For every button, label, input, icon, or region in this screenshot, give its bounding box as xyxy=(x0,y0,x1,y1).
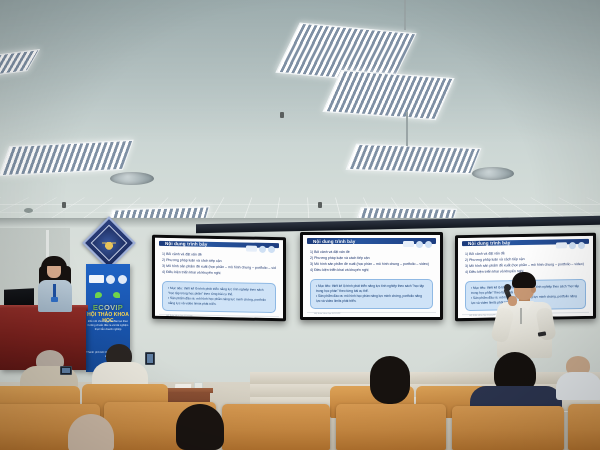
presentation-slide-2: Nội dung trình bày 1) Bối cảnh và đặt vấ… xyxy=(303,235,440,317)
slide-logo-wide-icon xyxy=(246,246,257,252)
smartphone xyxy=(60,366,72,375)
slide-logo-round-icon xyxy=(416,241,423,248)
slide-body: 1) Bối cảnh và đặt vấn đề 2) Phương pháp… xyxy=(303,244,440,312)
moderator-at-podium xyxy=(38,256,72,312)
moderator-hair-front xyxy=(45,258,63,266)
sprinkler-head-icon xyxy=(62,202,66,208)
sponsor-logo-1-icon xyxy=(89,275,104,283)
speaker-hand xyxy=(508,296,517,306)
slide-title: Nội dung trình bày xyxy=(468,240,510,246)
callout-line: • Sản phẩm đầu ra: mô hình học phần nâng… xyxy=(168,296,270,308)
smoke-detector-icon xyxy=(24,208,33,213)
slide-footer: Hội thảo khoa học ECOVIP xyxy=(307,312,436,317)
leaf-icon xyxy=(113,292,120,298)
ceiling-hanger-rod xyxy=(406,112,408,146)
slide-title: Nội dung trình bày xyxy=(165,241,207,247)
banner-subtitle: Đổi mới chương trình đào tạo theo hướng … xyxy=(87,320,129,332)
slide-logo-group xyxy=(403,241,432,248)
conference-room-photo: ECOVIP HỘI THẢO KHOA HỌC Đổi mới chương … xyxy=(0,0,600,450)
air-vent-icon xyxy=(472,167,514,180)
speaker-with-microphone xyxy=(494,272,556,358)
microphone-head-icon xyxy=(504,284,511,291)
slide-bullet: 4) Điều kiện triển khai và khuyến nghị xyxy=(310,267,433,273)
slide-body: 1) Bối cảnh và đặt vấn đề 2) Phương pháp… xyxy=(155,246,283,316)
auditorium-chair[interactable] xyxy=(222,404,330,450)
slide-logo-group xyxy=(246,245,275,253)
display-1-surface: Nội dung trình bày 1) Bối cảnh và đặt vấ… xyxy=(155,238,283,318)
tier-step xyxy=(250,372,600,384)
slide-logo-round-icon xyxy=(268,245,275,252)
audience-head xyxy=(176,404,224,450)
audience-head xyxy=(370,356,410,404)
slide-title: Nội dung trình bày xyxy=(313,239,355,244)
presentation-slide-1: Nội dung trình bày 1) Bối cảnh và đặt vấ… xyxy=(155,238,283,318)
emblem-crest-icon xyxy=(102,236,116,250)
sponsor-logo-2-icon xyxy=(106,275,115,284)
auditorium-chair[interactable] xyxy=(568,404,600,450)
slide-title-bar: Nội dung trình bày xyxy=(307,238,436,244)
air-vent-icon xyxy=(110,172,154,185)
slide-logo-wide-icon xyxy=(403,241,414,247)
slide-logo-round-icon xyxy=(569,242,576,249)
ceiling-light-panel xyxy=(322,70,454,120)
auditorium-chair[interactable] xyxy=(452,406,564,450)
phone-screen xyxy=(62,368,70,373)
lanyard xyxy=(520,308,522,324)
smartphone xyxy=(145,352,155,365)
phone-screen xyxy=(147,354,153,363)
lanyard xyxy=(53,284,56,298)
slide-logo-wide-icon xyxy=(556,242,567,248)
banner-sponsor-logos xyxy=(88,270,128,288)
sprinkler-head-icon xyxy=(280,112,284,118)
slide-logo-round-icon xyxy=(578,241,585,248)
ceiling-hanger-rod xyxy=(404,0,406,30)
banner-brand-text: ECOVIP xyxy=(93,303,123,312)
slide-callout-box: • Mục tiêu: thiết kế lộ trình phát triển… xyxy=(162,280,276,313)
speaker-hair xyxy=(512,272,536,288)
auditorium-chair[interactable] xyxy=(336,404,446,450)
name-badge xyxy=(51,297,58,302)
display-screen-1: Nội dung trình bày 1) Bối cảnh và đặt vấ… xyxy=(152,235,286,322)
slide-logo-round-icon xyxy=(425,241,432,248)
slide-logo-group xyxy=(556,241,585,249)
callout-line: • Sản phẩm đầu ra: mô hình học phần nâng… xyxy=(316,294,427,304)
slide-callout-box: • Mục tiêu: thiết kế lộ trình phát triển… xyxy=(310,279,433,310)
callout-line: • Mục tiêu: thiết kế lộ trình phát triển… xyxy=(316,284,427,294)
slide-logo-round-icon xyxy=(259,245,266,252)
audience-shoulders xyxy=(556,372,600,400)
sprinkler-head-icon xyxy=(318,202,322,208)
display-screen-2: Nội dung trình bày 1) Bối cảnh và đặt vấ… xyxy=(300,232,443,320)
ceiling-light-panel xyxy=(346,144,482,174)
display-2-surface: Nội dung trình bày 1) Bối cảnh và đặt vấ… xyxy=(303,235,440,317)
leaf-icon xyxy=(95,292,102,298)
sponsor-logo-3-icon xyxy=(118,275,127,284)
